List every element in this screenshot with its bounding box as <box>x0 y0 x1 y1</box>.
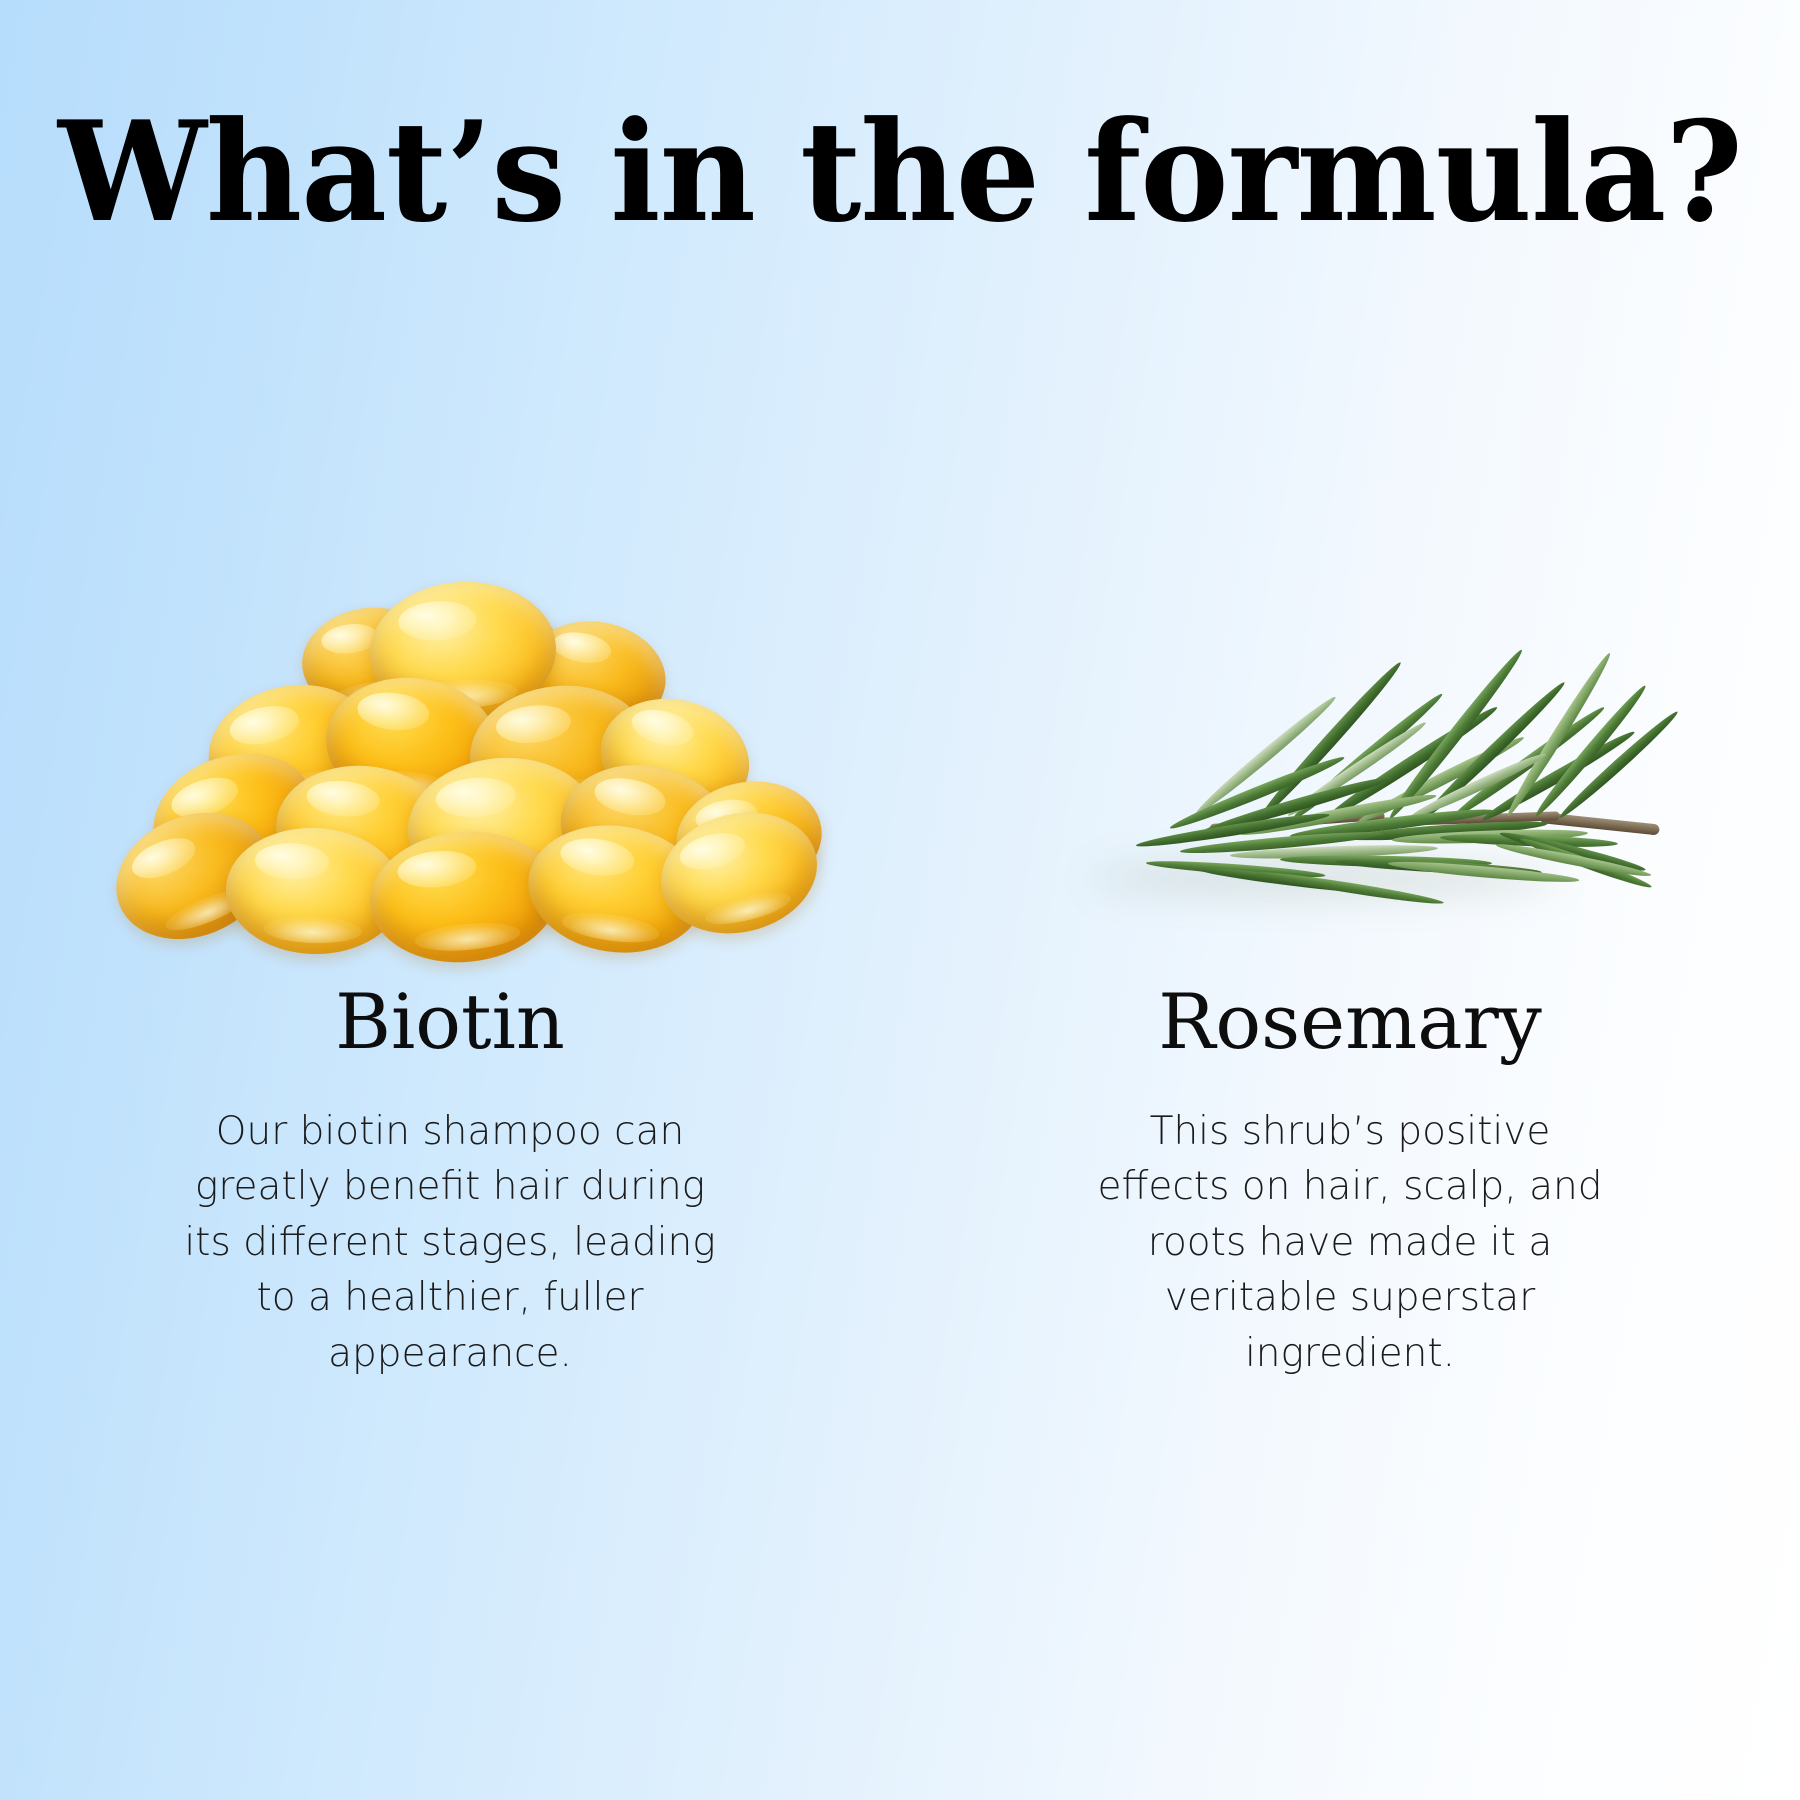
ingredient-name-rosemary: Rosemary <box>1158 984 1542 1060</box>
ingredient-description-biotin: Our biotin shampoo can greatly benefit h… <box>180 1104 720 1381</box>
formula-ingredients-poster: What’s in the formula? <box>0 0 1800 1800</box>
page-title: What’s in the formula? <box>36 96 1764 248</box>
biotin-capsules-image <box>40 560 860 960</box>
ingredient-description-rosemary: This shrub’s positive effects on hair, s… <box>1080 1104 1620 1381</box>
ingredient-name-biotin: Biotin <box>335 984 565 1060</box>
rosemary-sprig-image <box>940 560 1760 960</box>
ingredient-card-biotin: Biotin Our biotin shampoo can greatly be… <box>0 560 900 1381</box>
ingredient-card-rosemary: Rosemary This shrub’s positive effects o… <box>900 560 1800 1381</box>
ingredient-columns: Biotin Our biotin shampoo can greatly be… <box>0 560 1800 1381</box>
